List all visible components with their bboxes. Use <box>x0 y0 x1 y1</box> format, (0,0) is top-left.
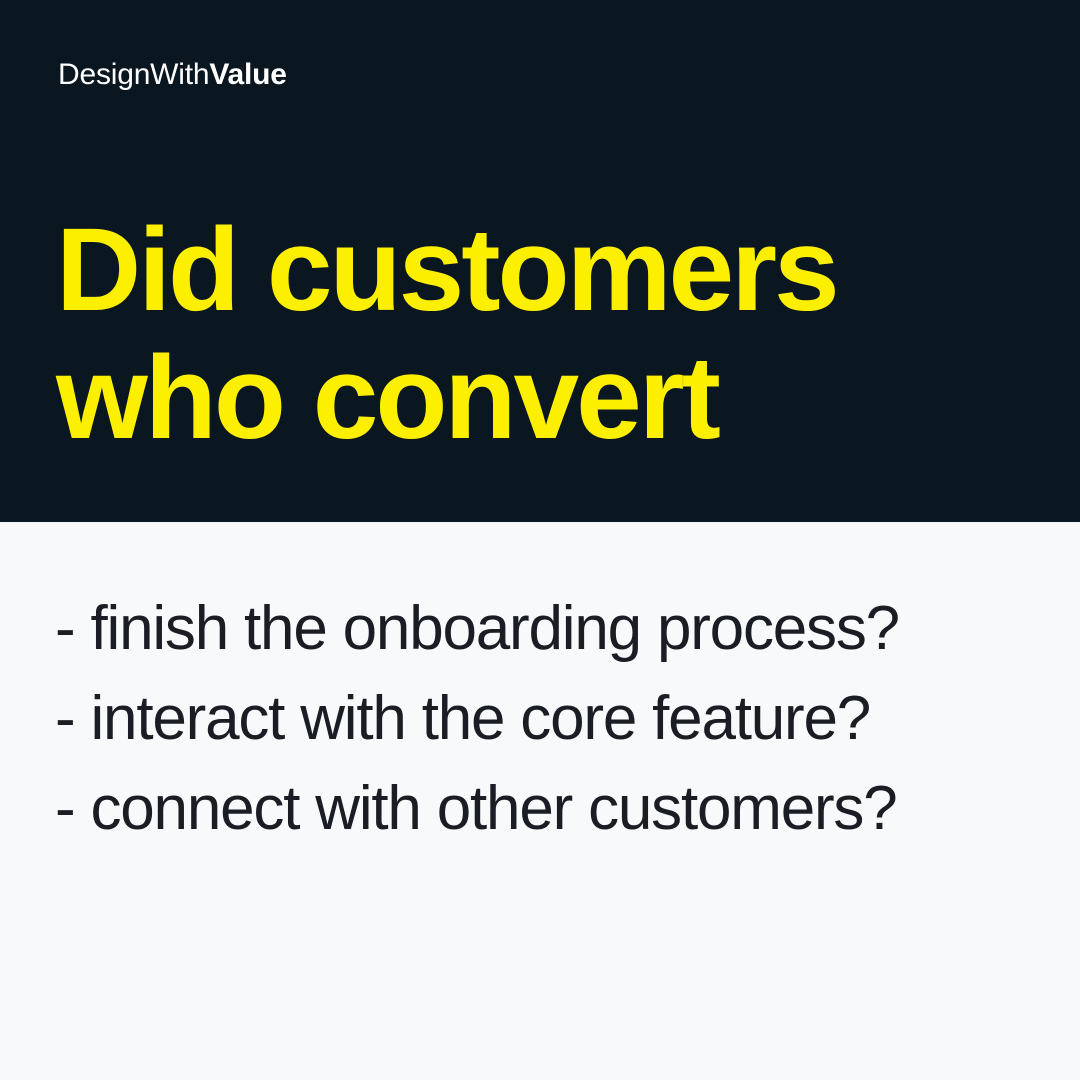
question-list: - finish the onboarding process? - inter… <box>55 584 899 854</box>
body-panel: - finish the onboarding process? - inter… <box>0 522 1080 1080</box>
headline: Did customers who convert <box>56 206 1016 462</box>
social-post-slide: DesignWithValue Did customers who conver… <box>0 0 1080 1080</box>
hero-panel: DesignWithValue Did customers who conver… <box>0 0 1080 522</box>
list-item: - connect with other customers? <box>55 764 899 854</box>
headline-line-2: who convert <box>56 334 1016 462</box>
list-item: - finish the onboarding process? <box>55 584 899 674</box>
headline-line-1: Did customers <box>56 206 1016 334</box>
brand-logo-bold: Value <box>209 58 286 91</box>
list-item: - interact with the core feature? <box>55 674 899 764</box>
brand-logo: DesignWithValue <box>58 58 287 92</box>
brand-logo-regular: DesignWith <box>58 58 209 91</box>
